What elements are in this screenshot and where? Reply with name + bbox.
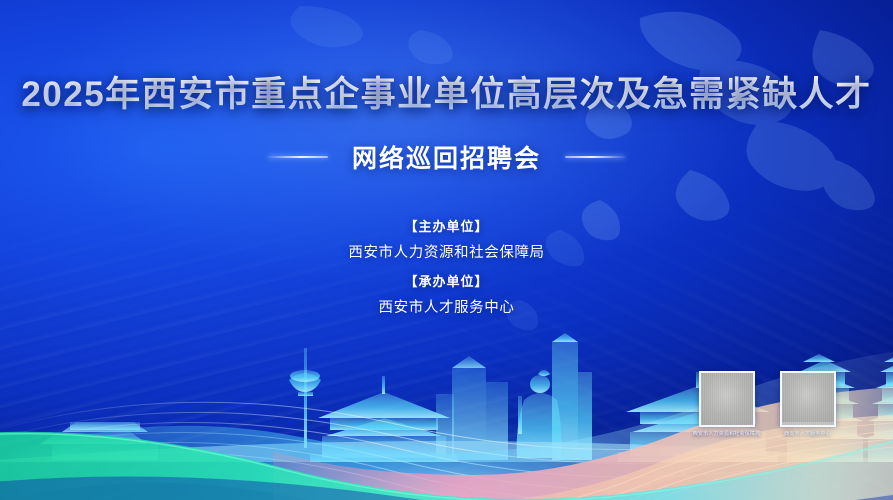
qr-code-item[interactable]: 西安市人力资源和社会保障局	[698, 371, 755, 438]
qr-code-texture	[782, 373, 834, 425]
qr-code-image-2[interactable]	[780, 371, 836, 427]
page-title: 2025年西安市重点企事业单位高层次及急需紧缺人才	[0, 74, 893, 116]
organizer-label: 【承办单位】	[0, 271, 893, 290]
qr-code-image-1[interactable]	[699, 371, 755, 427]
page-subtitle: 网络巡回招聘会	[352, 139, 541, 175]
recruitment-poster: 2025年西安市重点企事业单位高层次及急需紧缺人才 网络巡回招聘会 【主办单位】…	[0, 0, 893, 500]
organizer-name: 西安市人才服务中心	[0, 296, 893, 317]
subtitle-row: 网络巡回招聘会	[0, 139, 893, 175]
divider-line-left	[268, 156, 328, 158]
qr-code-caption-1: 西安市人力资源和社会保障局	[693, 432, 761, 438]
host-name: 西安市人力资源和社会保障局	[0, 241, 893, 262]
divider-line-right	[565, 156, 625, 158]
qr-code-texture	[701, 373, 753, 425]
poster-content: 2025年西安市重点企事业单位高层次及急需紧缺人才 网络巡回招聘会 【主办单位】…	[0, 0, 893, 500]
organizer-block: 【主办单位】 西安市人力资源和社会保障局 【承办单位】 西安市人才服务中心	[0, 216, 893, 317]
host-label: 【主办单位】	[0, 216, 893, 235]
qr-code-caption-2: 西安市人才服务中心	[784, 432, 831, 438]
qr-code-group: 西安市人力资源和社会保障局 西安市人才服务中心	[698, 371, 836, 438]
qr-code-item[interactable]: 西安市人才服务中心	[779, 371, 836, 438]
